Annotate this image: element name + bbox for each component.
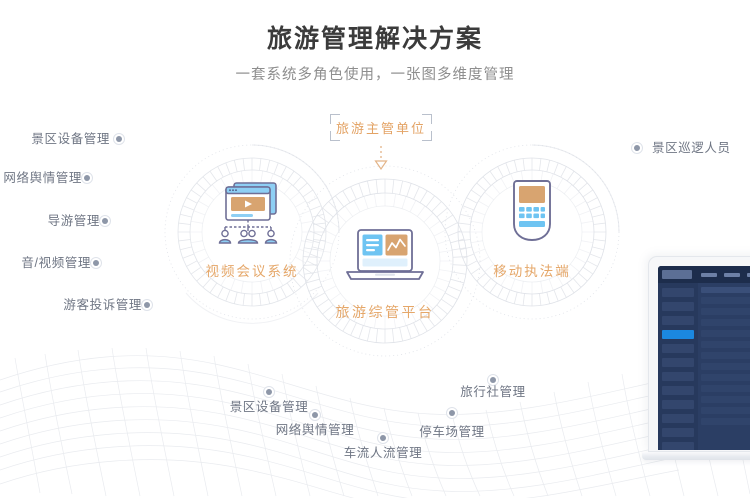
node-caption-mobile-enforcement: 移动执法端 bbox=[462, 260, 602, 280]
tree-row[interactable] bbox=[701, 385, 750, 392]
dashboard-sidebar bbox=[658, 283, 698, 450]
chevron-down-dotted-icon bbox=[368, 146, 394, 179]
dot-bottom-4 bbox=[446, 407, 458, 419]
dashboard-brand bbox=[662, 270, 692, 279]
tree-row[interactable] bbox=[701, 418, 750, 425]
sidebar-item[interactable] bbox=[662, 414, 694, 423]
label-left-4[interactable]: 音/视频管理 bbox=[0, 255, 91, 271]
sidebar-item[interactable] bbox=[662, 344, 694, 353]
tree-row[interactable] bbox=[701, 352, 750, 359]
tree-row[interactable] bbox=[701, 297, 750, 304]
dot-left-2 bbox=[81, 172, 93, 184]
dashboard-tab[interactable] bbox=[724, 273, 740, 277]
sidebar-item[interactable] bbox=[662, 302, 694, 311]
sidebar-item[interactable] bbox=[662, 428, 694, 437]
dashboard-tree-column bbox=[701, 297, 750, 429]
header-block: 旅游管理解决方案 一套系统多角色使用，一张图多维度管理 bbox=[0, 22, 750, 88]
sidebar-item[interactable] bbox=[662, 358, 694, 367]
label-bottom-1[interactable]: 景区设备管理 bbox=[219, 399, 319, 415]
laptop-lid bbox=[648, 256, 750, 452]
dot-bottom-3 bbox=[377, 432, 389, 444]
dashboard-main-panel bbox=[698, 283, 750, 450]
label-left-5[interactable]: 游客投诉管理 bbox=[32, 297, 142, 313]
label-bottom-5[interactable]: 旅行社管理 bbox=[443, 384, 543, 400]
laptop-screen bbox=[658, 266, 750, 450]
dashboard-toolbar bbox=[701, 287, 750, 293]
dashboard-body bbox=[658, 283, 750, 450]
tree-row[interactable] bbox=[701, 363, 750, 370]
label-bottom-2[interactable]: 网络舆情管理 bbox=[265, 422, 365, 438]
sidebar-item[interactable] bbox=[662, 316, 694, 325]
dot-bottom-1 bbox=[263, 386, 275, 398]
page-title: 旅游管理解决方案 bbox=[0, 22, 750, 56]
node-caption-tourism-platform: 旅游综管平台 bbox=[315, 302, 455, 322]
badge-tourism-authority[interactable]: 旅游主管单位 bbox=[330, 114, 432, 141]
dashboard-topbar bbox=[658, 266, 750, 283]
background-mesh-decoration bbox=[0, 318, 750, 498]
sidebar-item[interactable] bbox=[662, 442, 694, 450]
laptop-dashboard-icon bbox=[315, 228, 455, 293]
dot-left-3 bbox=[99, 215, 111, 227]
tree-row[interactable] bbox=[701, 319, 750, 326]
dot-left-1 bbox=[113, 133, 125, 145]
dashboard-tabs bbox=[701, 273, 750, 277]
label-left-1[interactable]: 景区设备管理 bbox=[0, 131, 110, 147]
label-left-2[interactable]: 网络舆情管理 bbox=[0, 170, 82, 186]
node-tourism-platform[interactable]: 旅游综管平台 bbox=[315, 228, 455, 322]
label-right-1[interactable]: 景区巡逻人员 bbox=[652, 140, 731, 156]
tree-row[interactable] bbox=[701, 374, 750, 381]
video-conference-icon bbox=[182, 180, 322, 251]
infographic-canvas: 旅游管理解决方案 一套系统多角色使用，一张图多维度管理 bbox=[0, 0, 750, 498]
tree-row[interactable] bbox=[701, 308, 750, 315]
sidebar-item[interactable] bbox=[662, 288, 694, 297]
label-left-3[interactable]: 导游管理 bbox=[0, 213, 100, 229]
node-caption-video-conference: 视频会议系统 bbox=[182, 260, 322, 280]
tree-row[interactable] bbox=[701, 341, 750, 348]
sidebar-item[interactable] bbox=[662, 372, 694, 381]
dashboard-tab[interactable] bbox=[701, 273, 717, 277]
sidebar-item[interactable] bbox=[662, 386, 694, 395]
badge-label: 旅游主管单位 bbox=[330, 114, 432, 141]
laptop-dashboard-mockup bbox=[648, 256, 750, 460]
node-video-conference[interactable]: 视频会议系统 bbox=[182, 180, 322, 280]
laptop-base bbox=[642, 452, 750, 460]
dot-left-5 bbox=[141, 299, 153, 311]
tree-row[interactable] bbox=[701, 330, 750, 337]
node-mobile-enforcement[interactable]: 移动执法端 bbox=[462, 178, 602, 280]
handheld-terminal-icon bbox=[462, 178, 602, 251]
tree-row[interactable] bbox=[701, 407, 750, 414]
dashboard-content-rows bbox=[701, 297, 750, 429]
label-bottom-3[interactable]: 车流人流管理 bbox=[333, 445, 433, 461]
dot-bottom-2 bbox=[309, 409, 321, 421]
dot-right-1 bbox=[631, 142, 643, 154]
label-bottom-4[interactable]: 停车场管理 bbox=[402, 424, 502, 440]
sidebar-item[interactable] bbox=[662, 400, 694, 409]
sidebar-item-active[interactable] bbox=[662, 330, 694, 339]
dot-left-4 bbox=[90, 257, 102, 269]
tree-row[interactable] bbox=[701, 396, 750, 403]
page-subtitle: 一套系统多角色使用，一张图多维度管理 bbox=[0, 62, 750, 88]
